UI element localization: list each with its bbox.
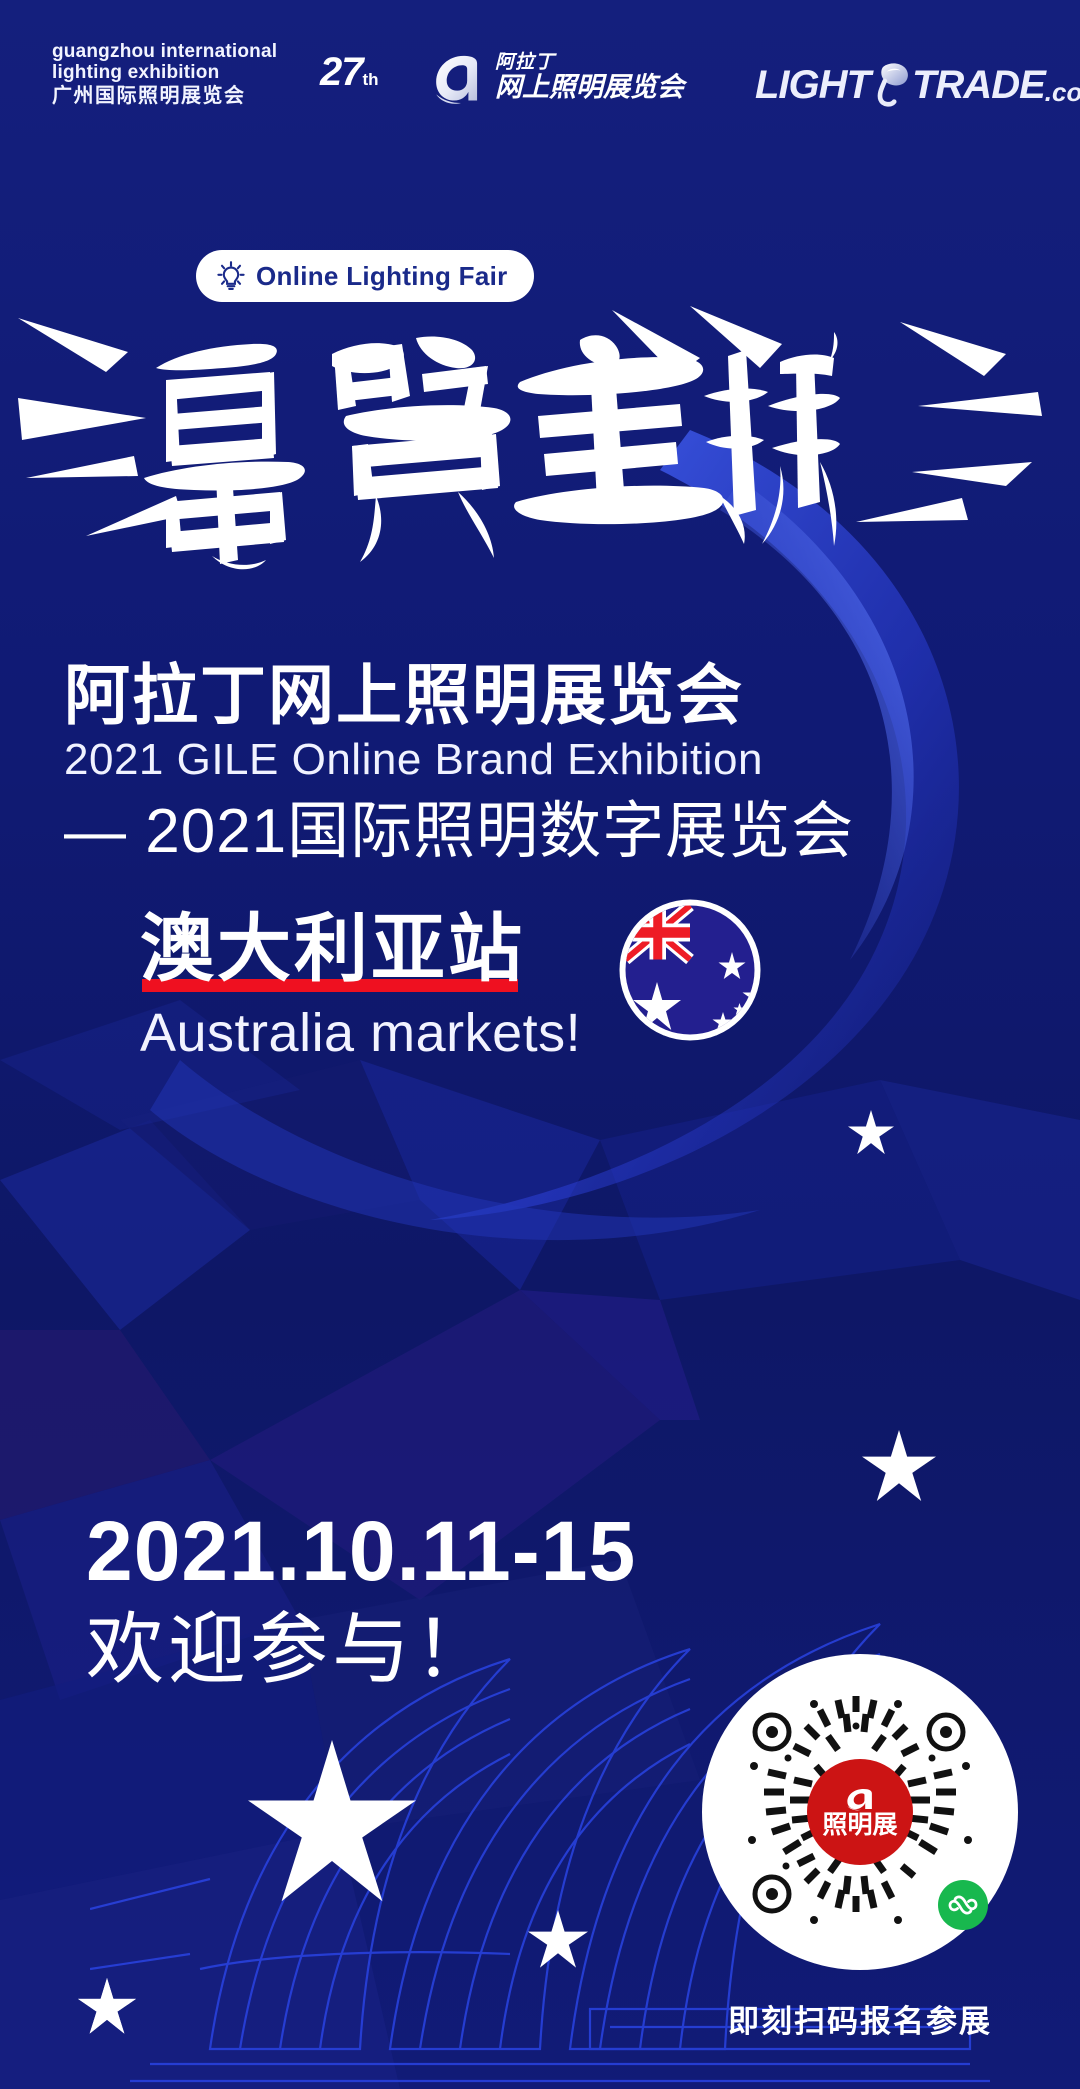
qr-center-logo: 照明展	[807, 1759, 913, 1865]
lightstrade-logo: LIGHT TRADE . com	[755, 58, 1080, 108]
aladdin-a-logo-icon	[425, 46, 487, 108]
region-text: 澳大利亚站 Australia markets!	[140, 910, 581, 1064]
header-logo-bar: guangzhou international lighting exhibit…	[0, 42, 1080, 122]
subtitle-cn-title: 阿拉丁网上照明展览会	[64, 660, 1024, 731]
poster-root: guangzhou international lighting exhibit…	[0, 0, 1080, 2089]
australia-flag-icon	[615, 895, 765, 1045]
decorative-star	[78, 1978, 136, 2036]
event-welcome: 欢迎参与！	[86, 1605, 636, 1695]
calligraphy-char-3	[514, 335, 723, 524]
calligraphy-char-1	[144, 344, 305, 569]
region-en-name: Australia markets!	[140, 1002, 581, 1064]
region-block: 澳大利亚站 Australia markets!	[140, 910, 765, 1064]
subtitle-block: 阿拉丁网上照明展览会 2021 GILE Online Brand Exhibi…	[64, 660, 1024, 867]
edition-number-value: 27	[320, 50, 363, 94]
decorative-star	[528, 1910, 588, 1970]
online-lighting-fair-label: Online Lighting Fair	[256, 261, 508, 292]
aladdin-a-logo-icon	[840, 1786, 880, 1812]
lightstrade-part2: TRADE	[912, 63, 1045, 108]
qr-center-text: 照明展	[822, 1813, 897, 1838]
spotlight-icon	[864, 58, 916, 110]
qr-code[interactable]: 照明展	[702, 1654, 1018, 1970]
region-cn-name: 澳大利亚站	[140, 910, 525, 988]
aladdin-logo: 阿拉丁 网上照明展览会	[425, 46, 684, 108]
calligraphy-char-2	[332, 337, 510, 563]
lightbulb-icon	[216, 261, 246, 291]
decorative-star	[848, 1110, 894, 1156]
calligraphy-char-4	[704, 332, 840, 546]
aladdin-logo-text: 阿拉丁 网上照明展览会	[495, 53, 684, 101]
aladdin-brand-big: 网上照明展览会	[495, 74, 684, 101]
aladdin-brand-small: 阿拉丁	[495, 53, 684, 72]
headline-calligraphy-block	[0, 300, 1080, 600]
gile-logo-en-line2: lighting exhibition	[52, 63, 277, 84]
online-lighting-fair-badge[interactable]: Online Lighting Fair	[196, 250, 534, 302]
edition-number-suffix: th	[363, 70, 379, 89]
wechat-miniprogram-icon	[938, 1880, 988, 1930]
gile-logo-cn: 广州国际照明展览会	[52, 86, 277, 108]
decorative-star	[248, 1740, 416, 1908]
lightstrade-part1: LIGHT	[755, 63, 870, 108]
gile-logo-en-line1: guangzhou international	[52, 42, 277, 63]
decorative-star	[862, 1430, 936, 1504]
edition-number: 27th	[320, 50, 379, 95]
event-date: 2021.10.11-15	[86, 1505, 636, 1597]
gile-logo: guangzhou international lighting exhibit…	[52, 42, 277, 108]
qr-caption: 即刻扫码报名参展	[660, 1996, 1060, 2041]
calligraphy-characters	[120, 310, 840, 570]
lightstrade-tld: com	[1052, 77, 1080, 108]
subtitle-en-title: 2021 GILE Online Brand Exhibition	[64, 735, 1024, 786]
lightstrade-dot: .	[1045, 77, 1052, 108]
subtitle-cn-secondary: — 2021国际照明数字展览会	[64, 796, 1024, 867]
event-date-block: 2021.10.11-15 欢迎参与！	[86, 1505, 636, 1695]
